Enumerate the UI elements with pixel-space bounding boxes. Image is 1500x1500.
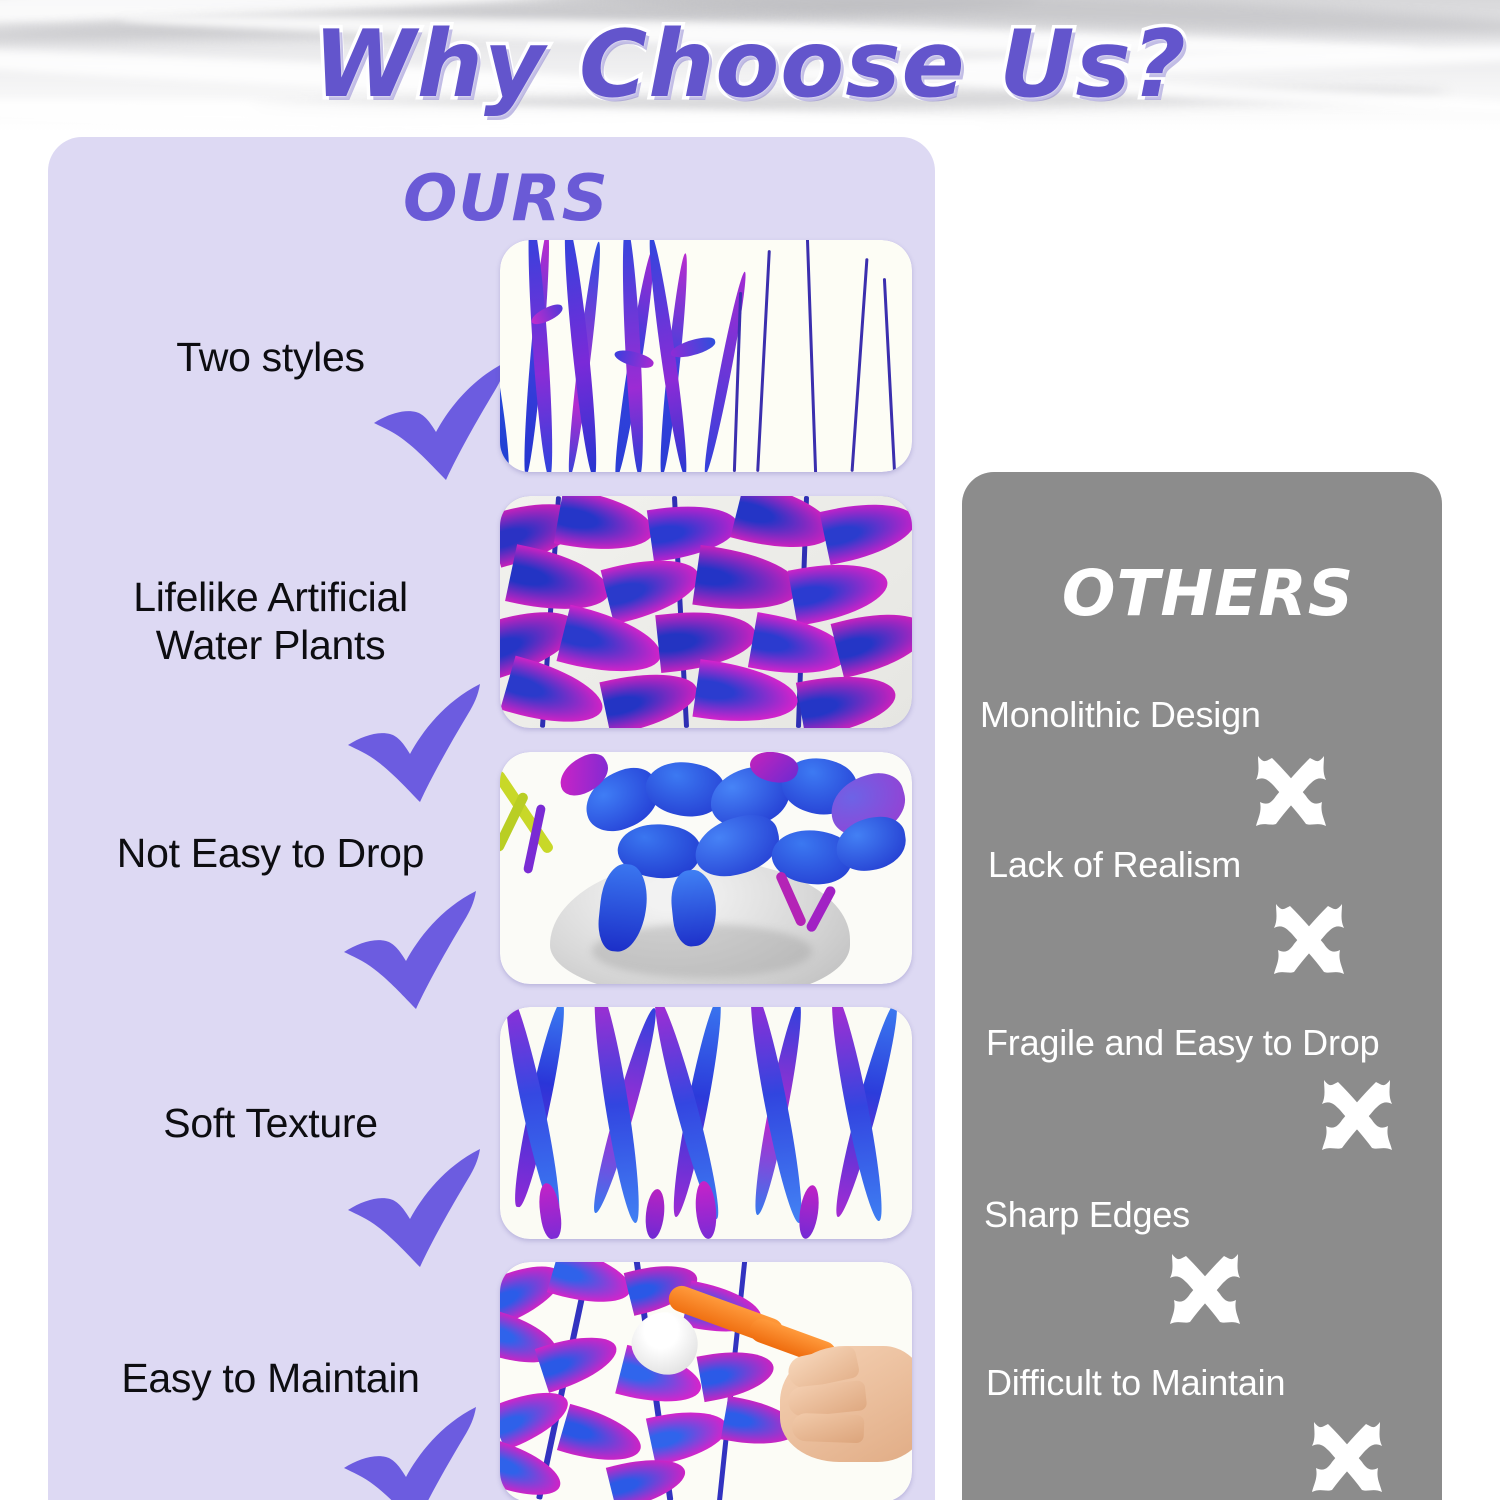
product-photo (500, 240, 912, 472)
check-icon (366, 360, 514, 482)
ours-row-label: Soft Texture (58, 1100, 483, 1148)
x-icon (1166, 1250, 1244, 1328)
ours-heading: OURS (48, 167, 935, 231)
others-panel: OTHERS Monolithic Design Lack of Realism… (962, 472, 1442, 1500)
product-photo (500, 1262, 912, 1500)
others-row-label: Difficult to Maintain (986, 1362, 1285, 1404)
infographic-root: Why Choose Us? OURS Two styles (0, 0, 1500, 1500)
others-row-label: Sharp Edges (984, 1194, 1190, 1236)
ours-row-label: Easy to Maintain (58, 1355, 483, 1403)
product-photo (500, 496, 912, 728)
x-icon (1318, 1076, 1396, 1154)
others-heading: OTHERS (962, 562, 1442, 625)
product-photo (500, 1007, 912, 1239)
check-icon (340, 682, 488, 804)
header-banner: Why Choose Us? (0, 0, 1500, 132)
ours-row-label: Not Easy to Drop (58, 830, 483, 878)
ours-row-label: Lifelike Artificial Water Plants (58, 574, 483, 670)
page-title: Why Choose Us? (0, 10, 1500, 118)
product-photo (500, 752, 912, 984)
x-icon (1270, 900, 1348, 978)
check-icon (336, 1405, 484, 1500)
x-icon (1252, 752, 1330, 830)
others-row-label: Fragile and Easy to Drop (986, 1022, 1379, 1064)
others-row-label: Lack of Realism (988, 844, 1241, 886)
finger (792, 1413, 865, 1443)
check-icon (336, 889, 484, 1011)
others-row-label: Monolithic Design (980, 694, 1261, 736)
check-icon (340, 1147, 488, 1269)
ours-panel: OURS Two styles (48, 137, 935, 1500)
x-icon (1308, 1418, 1386, 1496)
